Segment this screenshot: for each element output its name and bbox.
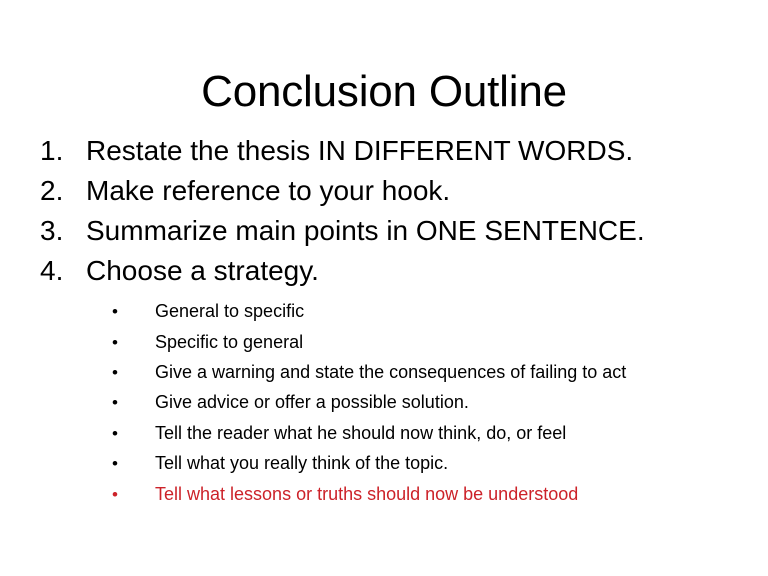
presentation-slide: Conclusion Outline 1. Restate the thesis… xyxy=(0,0,768,576)
bullet-icon: • xyxy=(112,481,155,509)
list-item: • General to specific xyxy=(112,296,740,326)
list-item-text: Give advice or offer a possible solution… xyxy=(155,387,740,417)
list-item: 4. Choose a strategy. xyxy=(40,252,740,290)
numbered-outline-list: 1. Restate the thesis IN DIFFERENT WORDS… xyxy=(40,132,740,290)
list-item: • Give advice or offer a possible soluti… xyxy=(112,387,740,417)
bullet-icon: • xyxy=(112,359,155,387)
bullet-icon: • xyxy=(112,420,155,448)
bullet-icon: • xyxy=(112,389,155,417)
list-item: • Tell the reader what he should now thi… xyxy=(112,418,740,448)
list-item-text: Tell the reader what he should now think… xyxy=(155,418,740,448)
list-item-text: Restate the thesis IN DIFFERENT WORDS. xyxy=(86,132,740,170)
list-item-text: General to specific xyxy=(155,296,740,326)
list-item: • Tell what you really think of the topi… xyxy=(112,448,740,478)
list-item-number: 1. xyxy=(40,132,86,170)
slide-content-body: 1. Restate the thesis IN DIFFERENT WORDS… xyxy=(40,132,740,509)
bullet-icon: • xyxy=(112,450,155,478)
bullet-icon: • xyxy=(112,329,155,357)
list-item: 2. Make reference to your hook. xyxy=(40,172,740,210)
list-item-text: Give a warning and state the consequence… xyxy=(155,357,740,387)
strategy-sub-list: • General to specific • Specific to gene… xyxy=(40,296,740,509)
list-item-text: Make reference to your hook. xyxy=(86,172,740,210)
list-item-number: 3. xyxy=(40,212,86,250)
list-item: • Specific to general xyxy=(112,327,740,357)
list-item-text: Specific to general xyxy=(155,327,740,357)
page-title: Conclusion Outline xyxy=(0,67,768,116)
list-item: 3. Summarize main points in ONE SENTENCE… xyxy=(40,212,740,250)
list-item: • Give a warning and state the consequen… xyxy=(112,357,740,387)
list-item-text: Summarize main points in ONE SENTENCE. xyxy=(86,212,740,250)
list-item-text: Tell what you really think of the topic. xyxy=(155,448,740,478)
list-item-text: Tell what lessons or truths should now b… xyxy=(155,479,740,509)
list-item-highlighted: • Tell what lessons or truths should now… xyxy=(112,479,740,509)
list-item-number: 4. xyxy=(40,252,86,290)
list-item: 1. Restate the thesis IN DIFFERENT WORDS… xyxy=(40,132,740,170)
list-item-number: 2. xyxy=(40,172,86,210)
list-item-text: Choose a strategy. xyxy=(86,252,740,290)
bullet-icon: • xyxy=(112,298,155,326)
